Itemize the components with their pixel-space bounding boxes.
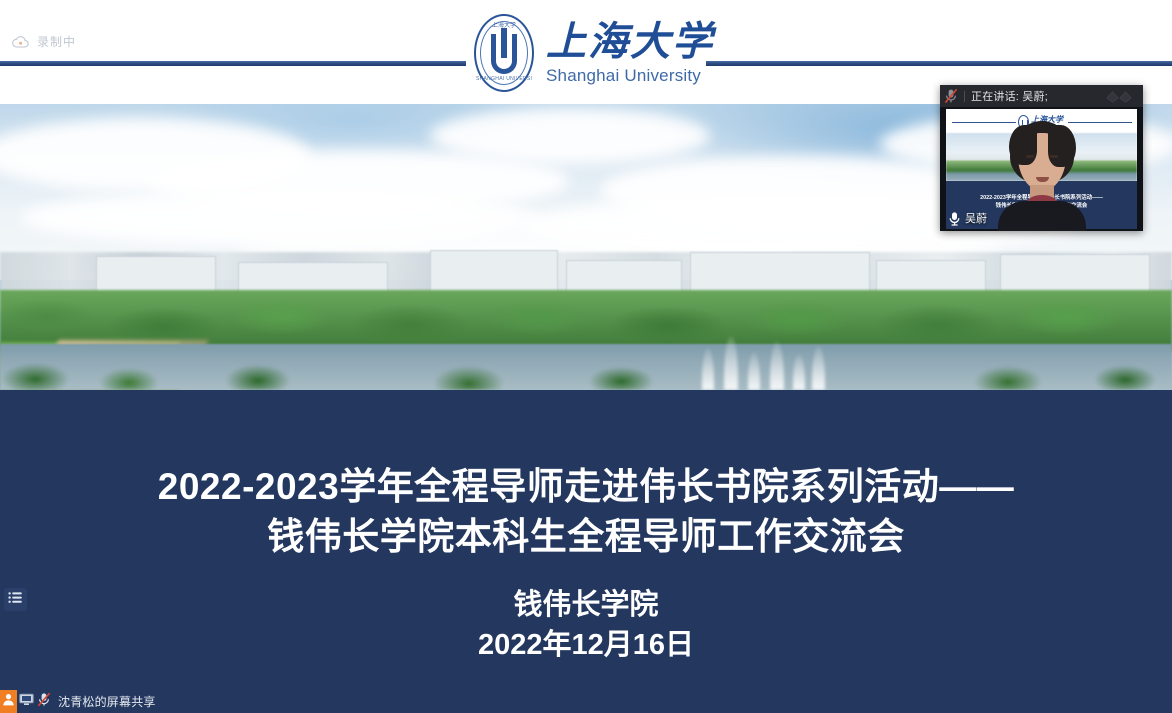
participant-name: 吴蔚 <box>965 210 987 226</box>
active-speaker-video-panel[interactable]: 正在讲话: 吴蔚; 上海大学 Shanghai Universi <box>940 85 1143 231</box>
header-rule-right <box>706 61 1172 66</box>
meeting-taskbar: 沈青松的屏幕共享 <box>0 690 1172 713</box>
monitor-share-icon <box>19 693 34 711</box>
slide-subtitle: 钱伟长学院 2022年12月16日 <box>0 585 1172 665</box>
logo-name-en: Shanghai University <box>546 65 714 87</box>
participants-icon <box>2 693 15 711</box>
header-rule-left <box>0 61 466 66</box>
video-panel-titlebar[interactable]: 正在讲话: 吴蔚; <box>940 85 1143 107</box>
mute-button[interactable] <box>35 690 53 713</box>
participants-button[interactable] <box>0 690 17 713</box>
mic-muted-icon[interactable] <box>944 88 958 104</box>
video-feed[interactable]: 上海大学 Shanghai University 2022-2023学年全程导师… <box>940 107 1143 231</box>
cloud-icon <box>12 36 29 48</box>
emblem-arc-text: SHANGHAI UNIVERSITY <box>476 68 532 90</box>
speaking-status-label: 正在讲话: 吴蔚; <box>971 88 1099 104</box>
logo-name-cn: 上海大学 <box>546 19 714 65</box>
participant-name-tag: 吴蔚 <box>948 210 987 226</box>
recording-indicator: 录制中 <box>12 33 76 50</box>
list-menu-icon <box>8 591 23 609</box>
chevron-collapse-icon[interactable] <box>1105 89 1139 103</box>
participant-video-image <box>996 121 1088 231</box>
meeting-screen: 上海大学 SHANGHAI UNIVERSITY 上海大学 Shanghai U… <box>0 0 1172 713</box>
logo-text: 上海大学 Shanghai University <box>546 19 714 87</box>
university-emblem-icon: 上海大学 SHANGHAI UNIVERSITY <box>472 12 536 94</box>
screen-share-status-label: 沈青松的屏幕共享 <box>58 693 156 710</box>
recording-label: 录制中 <box>37 33 76 50</box>
titlebar-divider <box>964 91 965 102</box>
mic-muted-icon <box>37 692 51 712</box>
slide-title: 2022-2023学年全程导师走进伟长书院系列活动—— 钱伟长学院本科生全程导师… <box>0 462 1172 562</box>
panel-list-toggle-button[interactable] <box>4 588 27 611</box>
screen-share-button[interactable] <box>17 690 35 713</box>
mic-icon <box>948 211 961 226</box>
slide-title-block: 2022-2023学年全程导师走进伟长书院系列活动—— 钱伟长学院本科生全程导师… <box>0 390 1172 690</box>
shanghai-university-logo: 上海大学 SHANGHAI UNIVERSITY 上海大学 Shanghai U… <box>472 8 704 98</box>
